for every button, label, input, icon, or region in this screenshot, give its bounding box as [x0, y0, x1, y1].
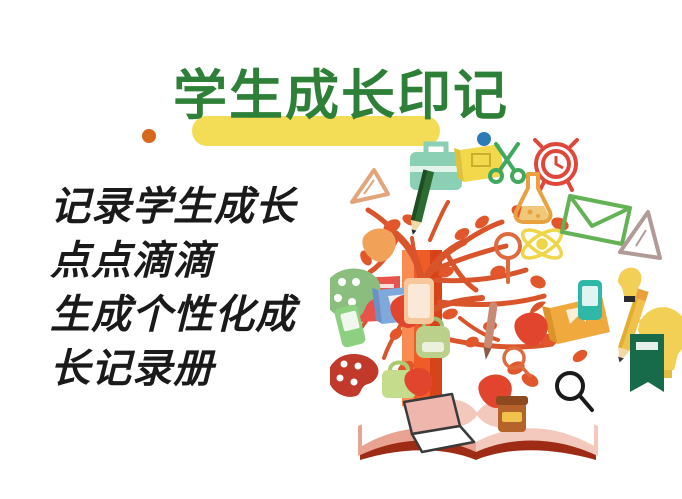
title-block: 学生成长印记 [0, 32, 682, 122]
knowledge-tree-illustration [330, 130, 682, 490]
notebook-icon [404, 278, 434, 324]
poster-canvas: 学生成长印记 记录学生成长 点点滴滴 生成个性化成 长记录册 [0, 0, 682, 499]
briefcase-icon [410, 144, 462, 190]
envelope-icon [562, 196, 630, 244]
tagline-line-2: 点点滴滴 [50, 234, 320, 288]
open-book-icon [358, 400, 598, 460]
yellow-book-icon [454, 144, 504, 182]
atom-icon [519, 225, 566, 264]
orange-dot-icon [142, 129, 156, 143]
phone-teal-icon [578, 280, 602, 320]
magnifier-black-icon [557, 373, 592, 410]
pen-icon [482, 302, 498, 361]
alarm-clock-icon [535, 140, 577, 190]
triangle-ruler-icon [352, 170, 388, 202]
page-title: 学生成长印记 [0, 68, 682, 125]
tagline-line-3: 生成个性化成 [50, 288, 320, 342]
honey-jar-icon [496, 396, 528, 432]
tagline-line-4: 长记录册 [50, 342, 320, 396]
dark-green-book-icon [630, 334, 664, 392]
palette-red-icon [330, 354, 378, 397]
tagline-block: 记录学生成长 点点滴滴 生成个性化成 长记录册 [50, 180, 320, 396]
tagline-line-1: 记录学生成长 [50, 180, 320, 234]
